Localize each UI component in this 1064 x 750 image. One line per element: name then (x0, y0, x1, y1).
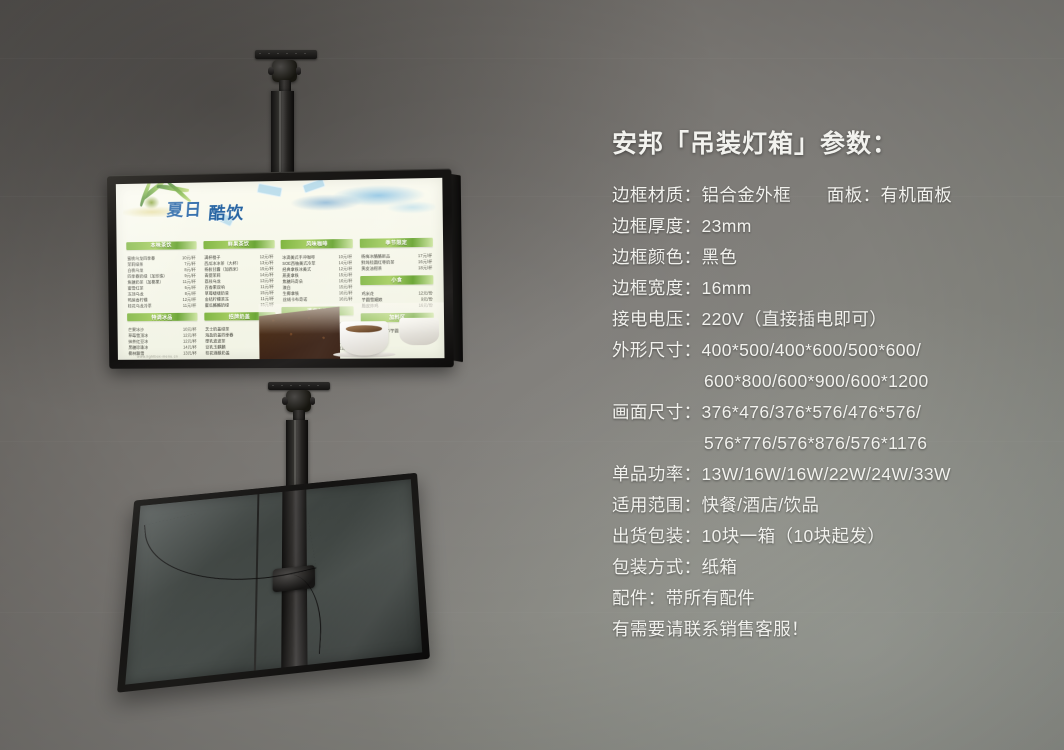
spec-line: 边框宽度：16mm (612, 273, 1042, 304)
menu-title-part1: 夏日 (167, 202, 204, 220)
menu-item-list: 蜜桃乌龙四季春10元/杯茉莉绿茶7元/杯白桃乌龙8元/杯四季春奶绿（加珍珠）9元… (126, 254, 197, 308)
menu-item-price: 15元/杯 (260, 290, 274, 295)
menu-section-header: 鲜果茶饮 (203, 240, 274, 249)
menu-item-row: 百香果双响11元/杯 (205, 284, 274, 290)
menu-item-name: 黑糖珍珠冰 (128, 345, 148, 350)
spec-line-list: 边框材质：铝合金外框 面板：有机面板边框厚度：23mm边框颜色：黑色边框宽度：1… (612, 180, 1042, 645)
rear-aluminum-frame (117, 473, 430, 693)
menu-item-price: 10元/杯 (338, 254, 352, 259)
menu-item-name: 焦糖奶茶（加椰果） (127, 279, 163, 284)
menu-item-price: 11元/杯 (183, 303, 196, 308)
menu-item-price: 9元/杯 (184, 273, 195, 278)
menu-section-header: 小食 (360, 275, 433, 285)
menu-item-price: 11元/杯 (260, 284, 274, 289)
menu-item-row: 桂花乌龙冷萃11元/杯 (128, 303, 196, 309)
menu-item-list: 芒果冰沙10元/杯草莓雪顶冰12元/杯抹茶红豆冰12元/杯黑糖珍珠冰14元/杯椰… (127, 326, 198, 356)
menu-item-name: 鸡米花 (362, 291, 374, 296)
spec-line: 包装方式：纸箱 (612, 552, 1042, 583)
menu-item-price: 13元/杯 (260, 278, 274, 283)
menu-item-row: 西瓜冰冰茶（大杯）13元/杯 (204, 260, 273, 266)
spec-line: 576*776/576*876/576*1176 (612, 428, 1042, 459)
menu-item-name: 生椰拿铁 (283, 291, 299, 296)
menu-item-name: 荔枝乌龙 (204, 279, 220, 284)
spec-line: 有需要请联系销售客服！ (612, 614, 1042, 645)
pivot-joint-icon (272, 60, 297, 82)
spec-title: 安邦「吊装灯箱」参数： (612, 124, 1042, 160)
menu-footer-url: www.lightbox-menu.cn (137, 355, 178, 359)
menu-item-price: 14元/杯 (338, 260, 352, 265)
menu-item-price: 18元/杯 (418, 265, 432, 270)
menu-item-price: 8元/杯 (185, 291, 196, 296)
menu-item-name: 冰滴美式手冲咖啡 (282, 254, 315, 259)
spec-line: 接电电压：220V（直接插电即可） (612, 304, 1042, 335)
menu-item-price: 12元/杯 (338, 266, 352, 271)
menu-item-row: 荔枝乌龙13元/杯 (204, 278, 273, 284)
menu-item-name: 蜜桃乌龙四季春 (127, 256, 155, 261)
menu-item-name: 鸭屎香柠檬 (128, 297, 148, 302)
menu-item-name: 海盐奶盖四季春 (205, 333, 233, 338)
spec-line: 外形尺寸：400*500/400*600/500*600/ (612, 335, 1042, 366)
menu-item-name: 白桃乌龙 (127, 268, 143, 273)
menu-item-name: 燕麦拿铁 (282, 272, 298, 277)
menu-item-row: 茉莉绿茶7元/杯 (127, 261, 195, 267)
menu-section-header: 本味茶饮 (126, 241, 196, 250)
photo-fade (259, 302, 445, 359)
menu-item-list: 冰滴美式手冲咖啡10元/杯SOE西柚美式冷萃14元/杯经典拿铁冰美式12元/杯燕… (281, 253, 354, 302)
menu-section-header: 季节限定 (360, 237, 433, 247)
menu-item-name: 黄皮油柑茶 (361, 265, 382, 270)
menu-item-price: 12元/杯 (183, 333, 197, 338)
menu-item-name: 芒果冰沙 (128, 327, 144, 332)
spec-line: 600*800/600*900/600*1200 (612, 366, 1042, 397)
menu-item-row: 杨梅冰酪酪新品17元/杯 (361, 253, 432, 259)
hanging-lightbox-front: 夏日 酷饮 本味茶饮蜜桃乌龙四季春10元/杯茉莉绿茶7元/杯白桃乌龙8元/杯四季… (107, 169, 454, 369)
menu-section-header-label: 鲜果茶饮 (203, 240, 274, 249)
menu-item-name: 丝绒卡布奇诺 (283, 296, 308, 301)
menu-item-row: 杨枝甘露（加西米）15元/杯 (204, 266, 273, 272)
menu-item-name: 四季春奶绿（加珍珠） (127, 273, 167, 278)
menu-item-name: 茉莉绿茶 (127, 262, 143, 267)
menu-item-name: 金桔柠檬茶冻 (205, 297, 229, 302)
spec-line: 适用范围：快餐/酒店/饮品 (612, 490, 1042, 521)
menu-item-price: 16元/杯 (339, 278, 353, 283)
menu-item-name: 焦糖玛奇朵 (282, 278, 302, 283)
menu-item-price: 6元/杯 (185, 285, 196, 290)
menu-item-price: 11元/杯 (260, 296, 274, 301)
coffee-photo (259, 302, 445, 359)
menu-item-price: 9元/份 (421, 296, 433, 301)
pole-highlight (279, 91, 281, 178)
menu-column: 本味茶饮蜜桃乌龙四季春10元/杯茉莉绿茶7元/杯白桃乌龙8元/杯四季春奶绿（加珍… (126, 241, 198, 356)
menu-item-name: 杨梅冰酪酪新品 (361, 253, 390, 258)
menu-item-row: 焦糖奶茶（加椰果）11元/杯 (127, 279, 195, 285)
menu-item-name: 杨枝甘露（加西米） (204, 267, 240, 272)
menu-item-row: 生椰拿铁16元/杯 (283, 290, 353, 296)
menu-item-price: 16元/杯 (339, 296, 353, 301)
background-band (0, 58, 1064, 59)
menu-panel-screen: 夏日 酷饮 本味茶饮蜜桃乌龙四季春10元/杯茉莉绿茶7元/杯白桃乌龙8元/杯四季… (116, 178, 445, 360)
menu-section-header: 风味咖啡 (281, 239, 353, 249)
menu-item-price: 10元/杯 (182, 255, 196, 260)
menu-item-price: 12元/份 (418, 290, 432, 295)
menu-item-row: 鲜炖桂圆红枣奶茶16元/杯 (361, 259, 432, 265)
menu-item-row: 燕麦拿铁15元/杯 (282, 272, 352, 278)
menu-item-name: 草莓啵啵奶昔 (205, 291, 229, 296)
spec-line: 画面尺寸：376*476/376*576/476*576/ (612, 397, 1042, 428)
menu-item-row: 草莓啵啵奶昔15元/杯 (205, 290, 274, 296)
menu-item-row: SOE西柚美式冷萃14元/杯 (282, 260, 352, 266)
menu-item-row: 黑糖珍珠冰14元/杯 (128, 345, 196, 350)
menu-item-name: 澳白 (283, 285, 291, 290)
menu-item-price: 13元/杯 (260, 260, 274, 265)
menu-item-name: 蜜瓜酪酪奶绿 (205, 303, 229, 308)
spec-line: 边框颜色：黑色 (612, 242, 1042, 273)
menu-item-list: 满杯橙子12元/杯西瓜冰冰茶（大杯）13元/杯杨枝甘露（加西米）15元/杯青提茉… (203, 253, 275, 308)
menu-item-name: 经典拿铁冰美式 (282, 266, 311, 271)
menu-item-row: 冰滴美式手冲咖啡10元/杯 (282, 254, 352, 260)
spec-line: 出货包装：10块一箱（10块起发） (612, 521, 1042, 552)
menu-item-name: 西瓜冰冰茶（大杯） (204, 261, 240, 266)
menu-item-name: 桂花乌龙冷萃 (128, 303, 152, 308)
menu-item-name: 冻顶乌龙 (128, 292, 144, 297)
hanging-lightbox-rear (117, 473, 430, 693)
menu-title-part2: 酷饮 (208, 205, 245, 223)
menu-item-name: 蜜雪红茶 (128, 286, 144, 291)
menu-item-row: 金桔柠檬茶冻11元/杯 (205, 296, 274, 302)
menu-section-header: 特调冰品 (127, 313, 197, 322)
menu-item-name: 芋圆雪媚娘 (362, 297, 383, 302)
menu-item-price: 12元/杯 (182, 297, 196, 302)
menu-item-name: 百香果双响 (205, 285, 225, 290)
product-photo-scene: 夏日 酷饮 本味茶饮蜜桃乌龙四季春10元/杯茉莉绿茶7元/杯白桃乌龙8元/杯四季… (0, 0, 1064, 750)
ceiling-plate-icon (255, 50, 317, 59)
menu-hero-art: 夏日 酷饮 (116, 178, 443, 244)
menu-item-row: 丝绒卡布奇诺16元/杯 (283, 296, 353, 302)
drop-pole-upper (271, 91, 294, 178)
menu-title: 夏日 酷饮 (167, 190, 376, 227)
spec-line: 单品功率：13W/16W/16W/22W/24W/33W (612, 459, 1042, 490)
menu-section-header-label: 小食 (360, 275, 433, 285)
menu-item-name: 草莓雪顶冰 (128, 333, 148, 338)
menu-item-row: 满杯橙子12元/杯 (204, 254, 273, 260)
menu-item-list: 杨梅冰酪酪新品17元/杯鲜炖桂圆红枣奶茶16元/杯黄皮油柑茶18元/杯 (360, 252, 433, 271)
menu-item-price: 17元/杯 (418, 253, 432, 258)
menu-section-header-label: 本味茶饮 (126, 241, 196, 250)
menu-item-row: 青提茉莉14元/杯 (204, 272, 273, 278)
menu-item-name: 桂花酒酿奶盖 (205, 351, 229, 356)
menu-item-row: 四季春奶绿（加珍珠）9元/杯 (127, 273, 195, 279)
menu-item-name: 抹茶红豆冰 (128, 339, 148, 344)
menu-item-row: 草莓雪顶冰12元/杯 (128, 333, 196, 338)
menu-item-price: 11元/杯 (183, 279, 196, 284)
spec-line: 边框材质：铝合金外框 面板：有机面板 (612, 180, 1042, 211)
spec-line: 边框厚度：23mm (612, 211, 1042, 242)
menu-section-header-label: 特调冰品 (127, 313, 197, 322)
menu-item-price: 16元/杯 (418, 259, 432, 264)
menu-item-price: 16元/杯 (339, 290, 353, 295)
menu-item-price: 15元/杯 (339, 272, 353, 277)
menu-item-name: 满杯橙子 (204, 255, 220, 260)
menu-item-row: 蜜桃乌龙四季春10元/杯 (127, 255, 195, 261)
menu-item-row: 澳白15元/杯 (283, 284, 353, 290)
menu-section-header-label: 风味咖啡 (281, 239, 353, 249)
menu-item-price: 7元/杯 (184, 261, 195, 266)
aluminum-frame: 夏日 酷饮 本味茶饮蜜桃乌龙四季春10元/杯茉莉绿茶7元/杯白桃乌龙8元/杯四季… (107, 169, 454, 369)
menu-item-row: 抹茶红豆冰12元/杯 (128, 339, 196, 344)
menu-item-row: 芋圆雪媚娘9元/份 (362, 296, 433, 302)
menu-item-name: SOE西柚美式冷萃 (282, 260, 315, 265)
menu-item-price: 15元/杯 (260, 266, 274, 271)
menu-item-row: 芒果冰沙10元/杯 (128, 327, 196, 332)
mount-plate-icon (268, 382, 330, 390)
menu-item-price: 14元/杯 (183, 345, 197, 350)
pivot-joint-icon (286, 390, 311, 412)
menu-item-price: 13元/杯 (183, 351, 197, 356)
specification-panel: 安邦「吊装灯箱」参数： 边框材质：铝合金外框 面板：有机面板边框厚度：23mm边… (612, 124, 1042, 645)
menu-item-price: 8元/杯 (184, 267, 195, 272)
menu-item-row: 焦糖玛奇朵16元/杯 (282, 278, 352, 284)
menu-item-name: 青提茉莉 (204, 273, 220, 278)
menu-item-price: 12元/杯 (183, 339, 197, 344)
rear-back-plate (125, 479, 422, 684)
menu-item-name: 豆乳玉麒麟 (205, 345, 225, 350)
menu-item-name: 厚乳波波茶 (205, 339, 225, 344)
menu-item-row: 鸭屎香柠檬12元/杯 (128, 297, 196, 303)
menu-item-price: 14元/杯 (260, 272, 274, 277)
menu-item-row: 经典拿铁冰美式12元/杯 (282, 266, 352, 272)
rear-sheen (125, 479, 422, 684)
menu-item-row: 白桃乌龙8元/杯 (127, 267, 195, 273)
spec-line: 配件：带所有配件 (612, 583, 1042, 614)
menu-item-price: 15元/杯 (339, 284, 353, 289)
menu-item-row: 蜜雪红茶6元/杯 (128, 285, 196, 291)
menu-item-name: 芝士奶盖绿茶 (205, 327, 229, 332)
menu-section-header-label: 季节限定 (360, 237, 433, 247)
menu-item-row: 冻顶乌龙8元/杯 (128, 291, 196, 297)
menu-item-price: 10元/杯 (183, 327, 197, 332)
menu-item-name: 鲜炖桂圆红枣奶茶 (361, 259, 394, 264)
menu-item-price: 12元/杯 (260, 254, 274, 259)
menu-item-row: 黄皮油柑茶18元/杯 (361, 265, 432, 271)
menu-item-row: 鸡米花12元/份 (362, 290, 433, 296)
